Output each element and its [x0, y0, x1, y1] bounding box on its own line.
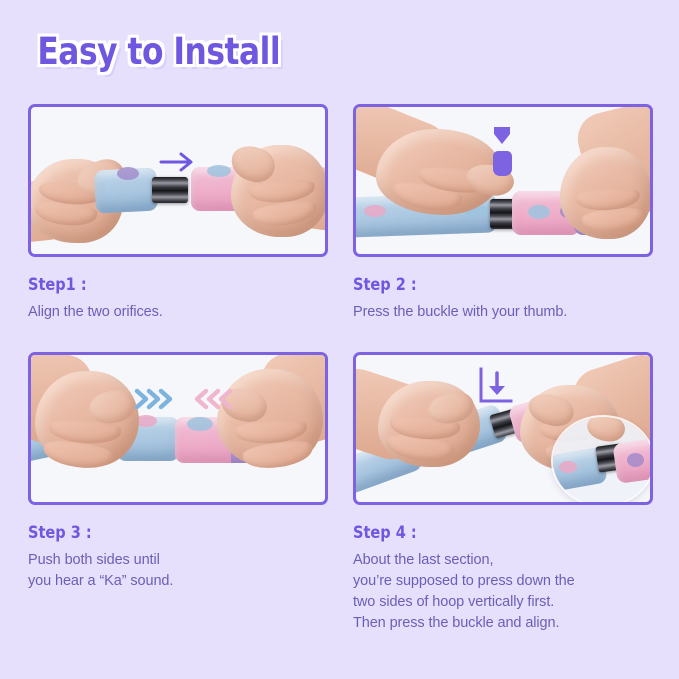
magnifier-inset: [553, 417, 653, 505]
right-arrow-icon: [157, 149, 199, 175]
step-card-3: Step 3 : Push both sides until you hear …: [28, 352, 338, 592]
step-1-body: Align the two orifices.: [28, 302, 338, 323]
inset-hoop-blue-marking: [559, 461, 577, 473]
step-4-line-2: you’re supposed to press down the: [353, 571, 663, 592]
page-title-text: Easy to Install: [28, 28, 290, 79]
step-2-body: Press the buckle with your thumb.: [353, 302, 663, 323]
step-3-photo: [28, 352, 328, 505]
step-2-photo: [353, 104, 653, 257]
hoop-pink-marking-1: [187, 417, 213, 431]
step-4-heading: Step 4 :: [353, 523, 648, 543]
step-4-caption: Step 4 : About the last section, you’re …: [353, 523, 663, 634]
step-1-line-1: Align the two orifices.: [28, 302, 338, 323]
step-3-line-1: Push both sides until: [28, 550, 338, 571]
step-2-heading: Step 2 :: [353, 275, 648, 295]
step-1-heading: Step1 :: [28, 275, 323, 295]
press-down-bracket-icon: [475, 365, 517, 407]
step-1-photo: [28, 104, 328, 257]
step-4-body: About the last section, you’re supposed …: [353, 550, 663, 634]
illustration-press-buckle: [356, 107, 650, 254]
illustration-hands-apart: [31, 107, 325, 254]
chevrons-left-icon: [189, 388, 233, 410]
hoop-pink-marking-1: [528, 205, 550, 219]
buckle-button-icon: [493, 151, 512, 176]
step-3-caption: Step 3 : Push both sides until you hear …: [28, 523, 338, 592]
hoop-connector-shaft: [152, 177, 188, 203]
illustration-last-section: [356, 355, 650, 502]
step-3-body: Push both sides until you hear a “Ka” so…: [28, 550, 338, 592]
step-4-photo: [353, 352, 653, 505]
press-down-arrow-icon: [489, 125, 515, 147]
hoop-blue-marking-1: [364, 205, 386, 217]
step-4-line-4: Then press the buckle and align.: [353, 613, 663, 634]
step-2-line-1: Press the buckle with your thumb.: [353, 302, 663, 323]
step-card-4: Step 4 : About the last section, you’re …: [353, 352, 663, 634]
illustration-push-together: [31, 355, 325, 502]
hoop-pink-marking: [207, 165, 231, 177]
step-2-caption: Step 2 : Press the buckle with your thum…: [353, 275, 663, 323]
inset-thumb: [585, 417, 626, 444]
step-4-line-3: two sides of hoop vertically first.: [353, 592, 663, 613]
hoop-blue-marking: [117, 167, 139, 180]
step-4-line-1: About the last section,: [353, 550, 663, 571]
step-3-heading: Step 3 :: [28, 523, 323, 543]
page-title: Easy to Install: [28, 28, 306, 79]
chevrons-right-icon: [134, 388, 178, 410]
step-card-1: Step1 : Align the two orifices.: [28, 104, 338, 323]
step-card-2: Step 2 : Press the buckle with your thum…: [353, 104, 663, 323]
inset-hoop-pink-marking: [627, 453, 644, 467]
step-1-caption: Step1 : Align the two orifices.: [28, 275, 338, 323]
step-3-line-2: you hear a “Ka” sound.: [28, 571, 338, 592]
